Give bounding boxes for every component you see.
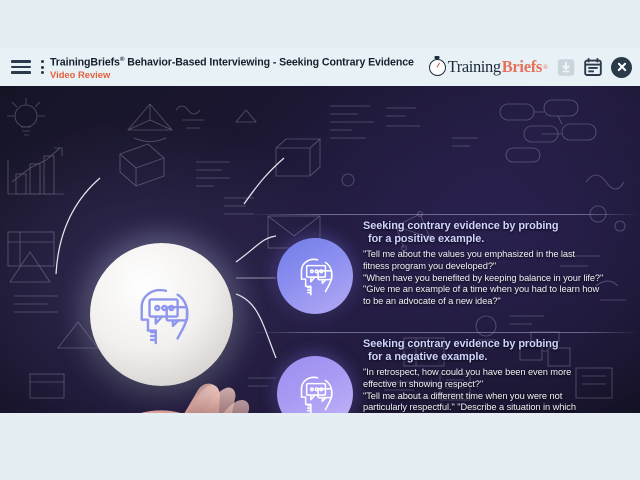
panel-heading: Seeking contrary evidence by probing for… <box>363 220 635 246</box>
panel-body: "In retrospect, how could you have been … <box>363 367 635 413</box>
panel-heading-line1: Seeking contrary evidence by probing <box>363 220 559 232</box>
kebab-menu-icon[interactable] <box>39 58 46 76</box>
node-circle-negative <box>277 356 353 413</box>
page-title-rest: Behavior-Based Interviewing - Seeking Co… <box>124 56 413 68</box>
video-stage[interactable]: Seeking contrary evidence by probing for… <box>0 86 640 413</box>
notes-icon[interactable] <box>584 58 602 77</box>
text-panel-negative: Seeking contrary evidence by probing for… <box>363 338 635 413</box>
panel-heading-line1: Seeking contrary evidence by probing <box>363 338 559 350</box>
text-panel-positive: Seeking contrary evidence by probing for… <box>363 220 635 307</box>
header-titles: TrainingBriefs® Behavior-Based Interview… <box>50 54 429 81</box>
close-icon[interactable] <box>611 57 632 78</box>
panel-body-text: "Tell me about the values you emphasized… <box>363 249 635 307</box>
logo-word-briefs: Briefs <box>502 57 542 77</box>
download-icon[interactable] <box>557 58 575 77</box>
panel-body-text: "In retrospect, how could you have been … <box>363 367 635 413</box>
panel-heading-line2: for a negative example. <box>363 351 635 364</box>
head-speech-bubble-icon <box>289 250 341 302</box>
trainingbriefs-logo: TrainingBriefs® <box>429 57 548 77</box>
stopwatch-icon <box>429 59 446 76</box>
panel-divider-middle <box>250 332 640 333</box>
logo-registered-mark: ® <box>543 64 548 71</box>
page-subtitle: Video Review <box>50 69 429 80</box>
node-circle-positive <box>277 238 353 314</box>
head-speech-bubble-icon <box>289 368 341 413</box>
app-header: TrainingBriefs® Behavior-Based Interview… <box>0 48 640 86</box>
hero-concept-circle <box>90 243 233 386</box>
panel-body: "Tell me about the values you emphasized… <box>363 249 635 307</box>
app-root: TrainingBriefs® Behavior-Based Interview… <box>0 0 640 480</box>
logo-word-training: Training <box>448 57 501 77</box>
panel-heading-line2: for a positive example. <box>363 233 635 246</box>
page-title: TrainingBriefs® Behavior-Based Interview… <box>50 54 429 69</box>
hamburger-menu-icon[interactable] <box>10 58 32 76</box>
panel-divider-top <box>250 214 640 215</box>
panel-heading: Seeking contrary evidence by probing for… <box>363 338 635 364</box>
header-right-controls: TrainingBriefs® <box>429 57 632 78</box>
page-title-brand: TrainingBriefs <box>50 56 120 68</box>
head-speech-bubble-icon <box>123 276 201 354</box>
header-left-controls <box>10 58 46 76</box>
